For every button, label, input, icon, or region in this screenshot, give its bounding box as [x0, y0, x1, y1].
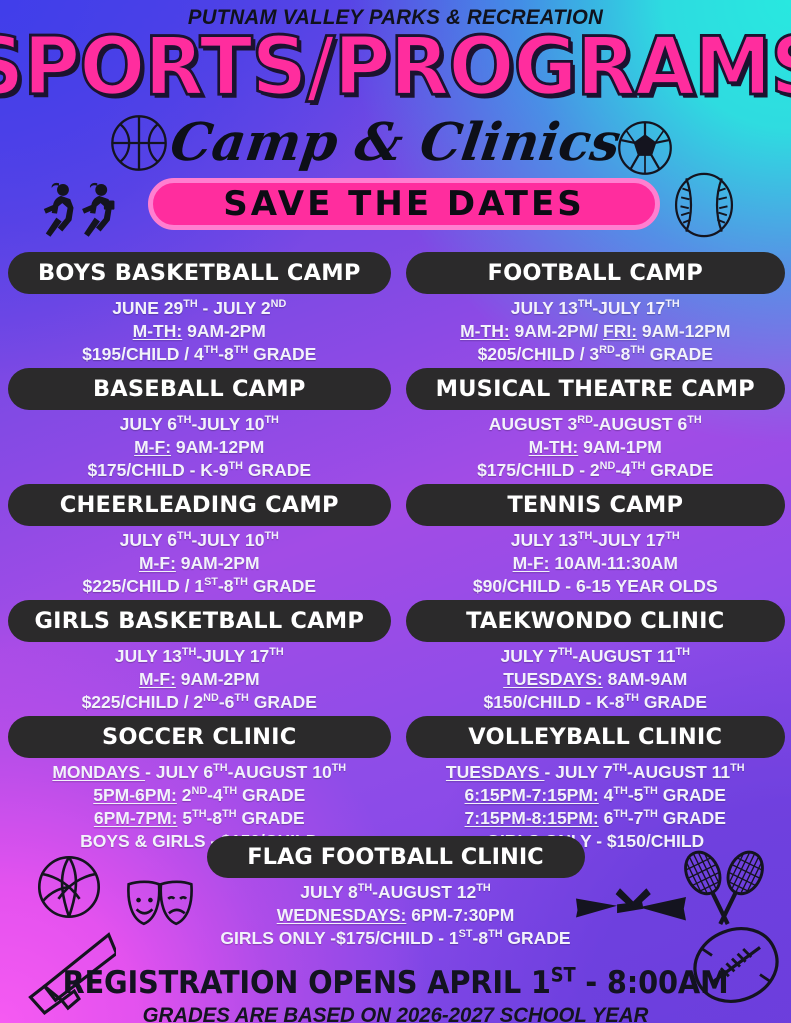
detail-line: AUGUST 3RD-AUGUST 6TH — [406, 413, 786, 436]
save-the-dates-banner: SAVE THE DATES — [148, 178, 660, 230]
detail-line: MONDAYS - JULY 6TH-AUGUST 10TH — [8, 761, 391, 784]
subtitle: Camp & Clinics — [0, 112, 791, 173]
program-title-musical-theatre-camp: MUSICAL THEATRE CAMP — [406, 368, 786, 410]
program-title-football-camp: FOOTBALL CAMP — [406, 252, 786, 294]
page-title: SPORTS/PROGRAMS — [0, 26, 791, 107]
program-card: MUSICAL THEATRE CAMPAUGUST 3RD-AUGUST 6T… — [396, 368, 791, 484]
detail-line: $225/CHILD / 2ND-6TH GRADE — [8, 691, 391, 714]
detail-line: JUNE 29TH - JULY 2ND — [8, 297, 391, 320]
detail-line: M-F: 9AM-12PM — [8, 436, 391, 459]
detail-line: JULY 7TH-AUGUST 11TH — [406, 645, 786, 668]
detail-line: $175/CHILD - 2ND-4TH GRADE — [406, 459, 786, 482]
program-title-volleyball-clinic: VOLLEYBALL CLINIC — [406, 716, 786, 758]
program-title-soccer-clinic: SOCCER CLINIC — [8, 716, 391, 758]
detail-line: 5PM-6PM: 2ND-4TH GRADE — [8, 784, 391, 807]
registration-prefix: REGISTRATION OPENS APRIL 1 — [62, 965, 550, 1001]
detail-line: JULY 13TH-JULY 17TH — [8, 645, 391, 668]
save-the-dates-label: SAVE THE DATES — [148, 178, 660, 230]
program-row: CHEERLEADING CAMPJULY 6TH-JULY 10THM-F: … — [0, 484, 791, 600]
program-card: BASEBALL CAMPJULY 6TH-JULY 10THM-F: 9AM-… — [0, 368, 396, 484]
detail-line: GIRLS ONLY -$175/CHILD - 1ST-8TH GRADE — [0, 927, 791, 950]
detail-line: JULY 13TH-JULY 17TH — [406, 297, 786, 320]
program-details-musical-theatre-camp: AUGUST 3RD-AUGUST 6THM-TH: 9AM-1PM$175/C… — [406, 410, 786, 484]
detail-line: JULY 8TH-AUGUST 12TH — [0, 881, 791, 904]
detail-line: JULY 6TH-JULY 10TH — [8, 413, 391, 436]
program-row: GIRLS BASKETBALL CAMPJULY 13TH-JULY 17TH… — [0, 600, 791, 716]
detail-line: $175/CHILD - K-9TH GRADE — [8, 459, 391, 482]
program-card: GIRLS BASKETBALL CAMPJULY 13TH-JULY 17TH… — [0, 600, 396, 716]
detail-line: M-F: 9AM-2PM — [8, 552, 391, 575]
program-card: TAEKWONDO CLINICJULY 7TH-AUGUST 11THTUES… — [396, 600, 791, 716]
registration-ordinal: ST — [551, 964, 576, 987]
detail-line: M-TH: 9AM-1PM — [406, 436, 786, 459]
detail-line: $150/CHILD - K-8TH GRADE — [406, 691, 786, 714]
detail-line: $205/CHILD / 3RD-8TH GRADE — [406, 343, 786, 366]
detail-line: $90/CHILD - 6-15 YEAR OLDS — [406, 575, 786, 598]
program-title-girls-basketball-camp: GIRLS BASKETBALL CAMP — [8, 600, 391, 642]
program-card: BOYS BASKETBALL CAMPJUNE 29TH - JULY 2ND… — [0, 252, 396, 368]
program-card: SOCCER CLINICMONDAYS - JULY 6TH-AUGUST 1… — [0, 716, 396, 855]
detail-line: M-F: 9AM-2PM — [8, 668, 391, 691]
detail-line: M-TH: 9AM-2PM — [8, 320, 391, 343]
program-card: TENNIS CAMPJULY 13TH-JULY 17THM-F: 10AM-… — [396, 484, 791, 600]
program-title-taekwondo-clinic: TAEKWONDO CLINIC — [406, 600, 786, 642]
detail-line: 6:15PM-7:15PM: 4TH-5TH GRADE — [406, 784, 786, 807]
program-row: SOCCER CLINICMONDAYS - JULY 6TH-AUGUST 1… — [0, 716, 791, 855]
grades-note: GRADES ARE BASED ON 2026-2027 SCHOOL YEA… — [12, 1004, 779, 1023]
detail-line: $225/CHILD / 1ST-8TH GRADE — [8, 575, 391, 598]
detail-line: JULY 6TH-JULY 10TH — [8, 529, 391, 552]
detail-line: JULY 13TH-JULY 17TH — [406, 529, 786, 552]
poster-canvas: PUTNAM VALLEY PARKS & RECREATION SPORTS/… — [0, 0, 791, 1023]
baseball-icon — [672, 172, 736, 238]
registration-notice: REGISTRATION OPENS APRIL 1ST - 8:00AM — [28, 965, 764, 1001]
detail-line: 6PM-7PM: 5TH-8TH GRADE — [8, 807, 391, 830]
program-details-cheerleading-camp: JULY 6TH-JULY 10THM-F: 9AM-2PM$225/CHILD… — [8, 526, 391, 600]
program-title-flag-football-clinic: FLAG FOOTBALL CLINIC — [207, 836, 585, 878]
bottom-section: FLAG FOOTBALL CLINIC JULY 8TH-AUGUST 12T… — [0, 836, 791, 1023]
detail-line: 7:15PM-8:15PM: 6TH-7TH GRADE — [406, 807, 786, 830]
program-row: BOYS BASKETBALL CAMPJUNE 29TH - JULY 2ND… — [0, 252, 791, 368]
program-row: BASEBALL CAMPJULY 6TH-JULY 10THM-F: 9AM-… — [0, 368, 791, 484]
program-title-baseball-camp: BASEBALL CAMP — [8, 368, 391, 410]
program-details-football-camp: JULY 13TH-JULY 17THM-TH: 9AM-2PM/ FRI: 9… — [406, 294, 786, 368]
program-details-flag-football-clinic: JULY 8TH-AUGUST 12THWEDNESDAYS: 6PM-7:30… — [0, 878, 791, 952]
program-card: VOLLEYBALL CLINICTUESDAYS - JULY 7TH-AUG… — [396, 716, 791, 855]
program-title-cheerleading-camp: CHEERLEADING CAMP — [8, 484, 391, 526]
program-details-baseball-camp: JULY 6TH-JULY 10THM-F: 9AM-12PM$175/CHIL… — [8, 410, 391, 484]
program-details-tennis-camp: JULY 13TH-JULY 17THM-F: 10AM-11:30AM$90/… — [406, 526, 786, 600]
program-card: CHEERLEADING CAMPJULY 6TH-JULY 10THM-F: … — [0, 484, 396, 600]
program-card: FOOTBALL CAMPJULY 13TH-JULY 17THM-TH: 9A… — [396, 252, 791, 368]
detail-line: TUESDAYS - JULY 7TH-AUGUST 11TH — [406, 761, 786, 784]
detail-line: $195/CHILD / 4TH-8TH GRADE — [8, 343, 391, 366]
program-details-taekwondo-clinic: JULY 7TH-AUGUST 11THTUESDAYS: 8AM-9AM$15… — [406, 642, 786, 716]
detail-line: TUESDAYS: 8AM-9AM — [406, 668, 786, 691]
program-title-tennis-camp: TENNIS CAMP — [406, 484, 786, 526]
program-details-girls-basketball-camp: JULY 13TH-JULY 17THM-F: 9AM-2PM$225/CHIL… — [8, 642, 391, 716]
detail-line: M-TH: 9AM-2PM/ FRI: 9AM-12PM — [406, 320, 786, 343]
program-grid: BOYS BASKETBALL CAMPJUNE 29TH - JULY 2ND… — [0, 252, 791, 855]
program-title-boys-basketball-camp: BOYS BASKETBALL CAMP — [8, 252, 391, 294]
program-details-boys-basketball-camp: JUNE 29TH - JULY 2NDM-TH: 9AM-2PM$195/CH… — [8, 294, 391, 368]
detail-line: M-F: 10AM-11:30AM — [406, 552, 786, 575]
registration-suffix: - 8:00AM — [575, 965, 728, 1001]
detail-line: WEDNESDAYS: 6PM-7:30PM — [0, 904, 791, 927]
running-figures-icon — [38, 178, 146, 244]
